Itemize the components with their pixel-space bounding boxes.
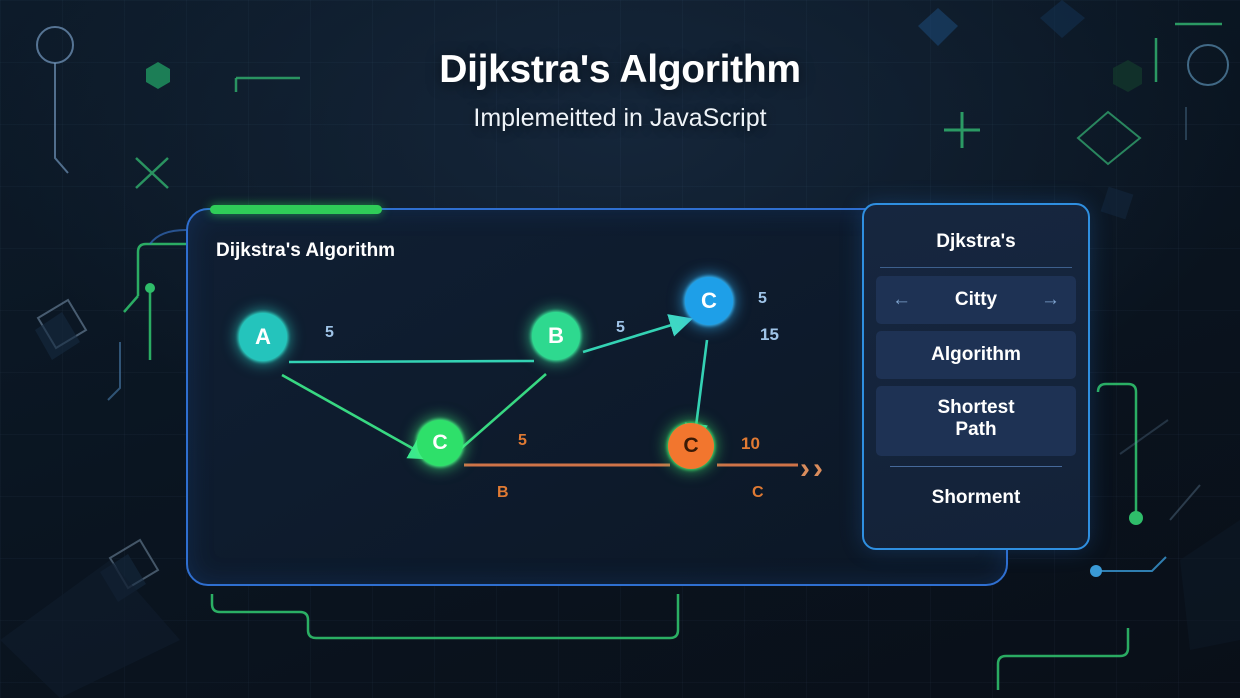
page-subtitle: Implemeitted in JavaScript — [0, 104, 1240, 133]
graph-node-c2[interactable]: C — [417, 420, 463, 466]
page-title: Dijkstra's Algorithm — [0, 48, 1240, 92]
city-label: Citty — [955, 289, 997, 311]
panel-item-label: Algorithm — [931, 344, 1021, 366]
panel-item-algorithm[interactable]: Algorithm — [876, 331, 1076, 379]
graph-node-b[interactable]: B — [532, 312, 580, 360]
arrow-left-icon[interactable]: ← — [892, 289, 911, 311]
panel-item-shorment[interactable]: Shorment — [876, 477, 1076, 519]
panel-divider — [890, 466, 1062, 467]
graph-node-label: A — [255, 324, 271, 350]
title-block: Dijkstra's Algorithm Implemeitted in Jav… — [0, 48, 1240, 133]
next-step-chevrons-icon[interactable]: ›› — [800, 452, 826, 486]
graph-node-label: C — [701, 288, 717, 314]
graph-node-c3[interactable]: C — [668, 423, 714, 469]
side-panel: Djkstra's ← Citty → Algorithm Shortest P… — [862, 203, 1090, 550]
graph-node-a[interactable]: A — [239, 313, 287, 361]
arrow-right-icon[interactable]: → — [1041, 289, 1060, 311]
panel-item-shortest-path[interactable]: Shortest Path — [876, 386, 1076, 456]
panel-item-label-line2: Path — [955, 419, 996, 441]
graph-node-label: C — [432, 431, 447, 455]
graph-node-label: B — [548, 323, 564, 349]
panel-header: Djkstra's — [880, 215, 1072, 268]
city-selector-row[interactable]: ← Citty → — [876, 276, 1076, 324]
panel-item-label-line1: Shortest — [937, 397, 1014, 419]
graph-node-c1[interactable]: C — [685, 277, 733, 325]
graph-node-label: C — [683, 434, 698, 458]
